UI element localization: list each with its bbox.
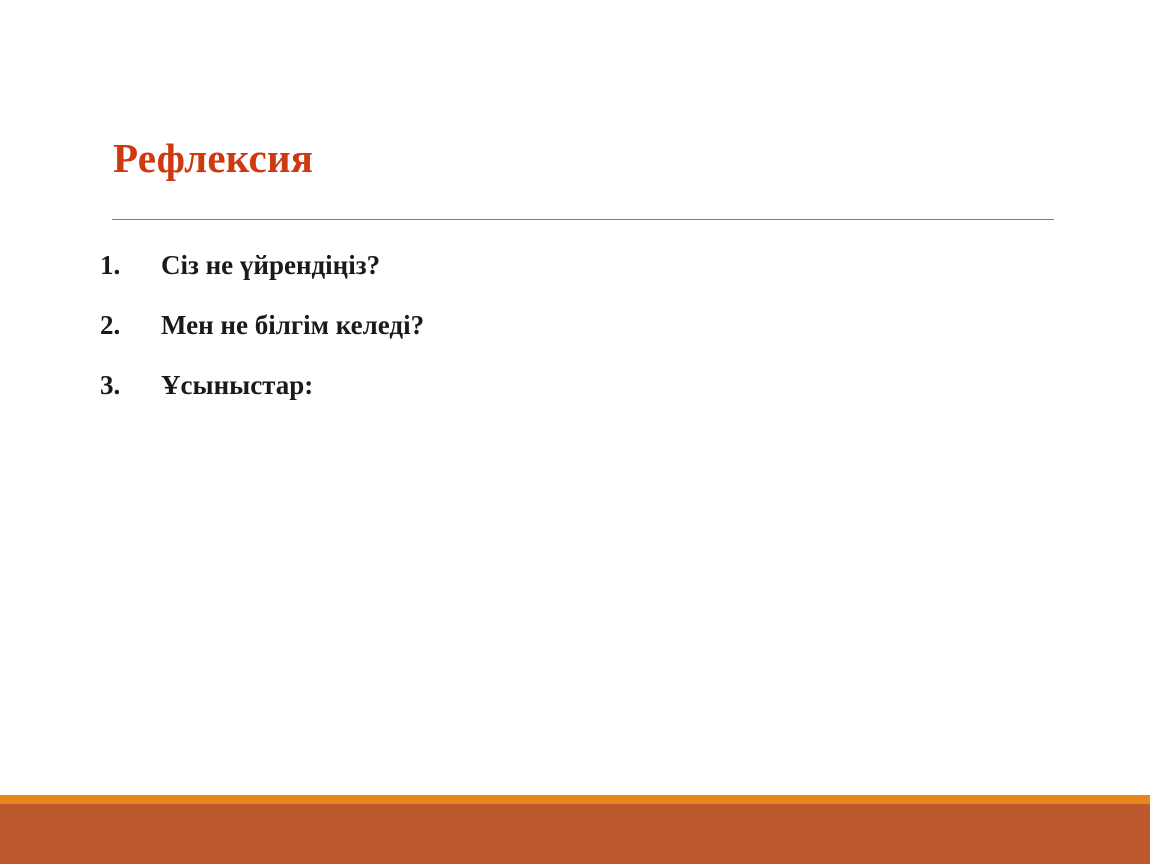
list-item-number: 1. xyxy=(100,248,161,282)
numbered-list: 1. Сіз не үйрендіңіз? 2. Мен не білгім к… xyxy=(100,248,1000,428)
list-item-label: Сіз не үйрендіңіз? xyxy=(161,248,380,282)
list-item-label: Ұсыныстар: xyxy=(161,368,313,402)
list-item: 3. Ұсыныстар: xyxy=(100,368,1000,428)
slide: Рефлексия 1. Сіз не үйрендіңіз? 2. Мен н… xyxy=(0,0,1150,864)
list-item: 2. Мен не білгім келеді? xyxy=(100,308,1000,368)
list-item-number: 3. xyxy=(100,368,161,402)
page-title: Рефлексия xyxy=(113,134,313,182)
footer-accent-stripe xyxy=(0,795,1150,804)
title-divider xyxy=(112,219,1054,220)
footer-band xyxy=(0,804,1150,864)
list-item: 1. Сіз не үйрендіңіз? xyxy=(100,248,1000,308)
list-item-label: Мен не білгім келеді? xyxy=(161,308,424,342)
list-item-number: 2. xyxy=(100,308,161,342)
